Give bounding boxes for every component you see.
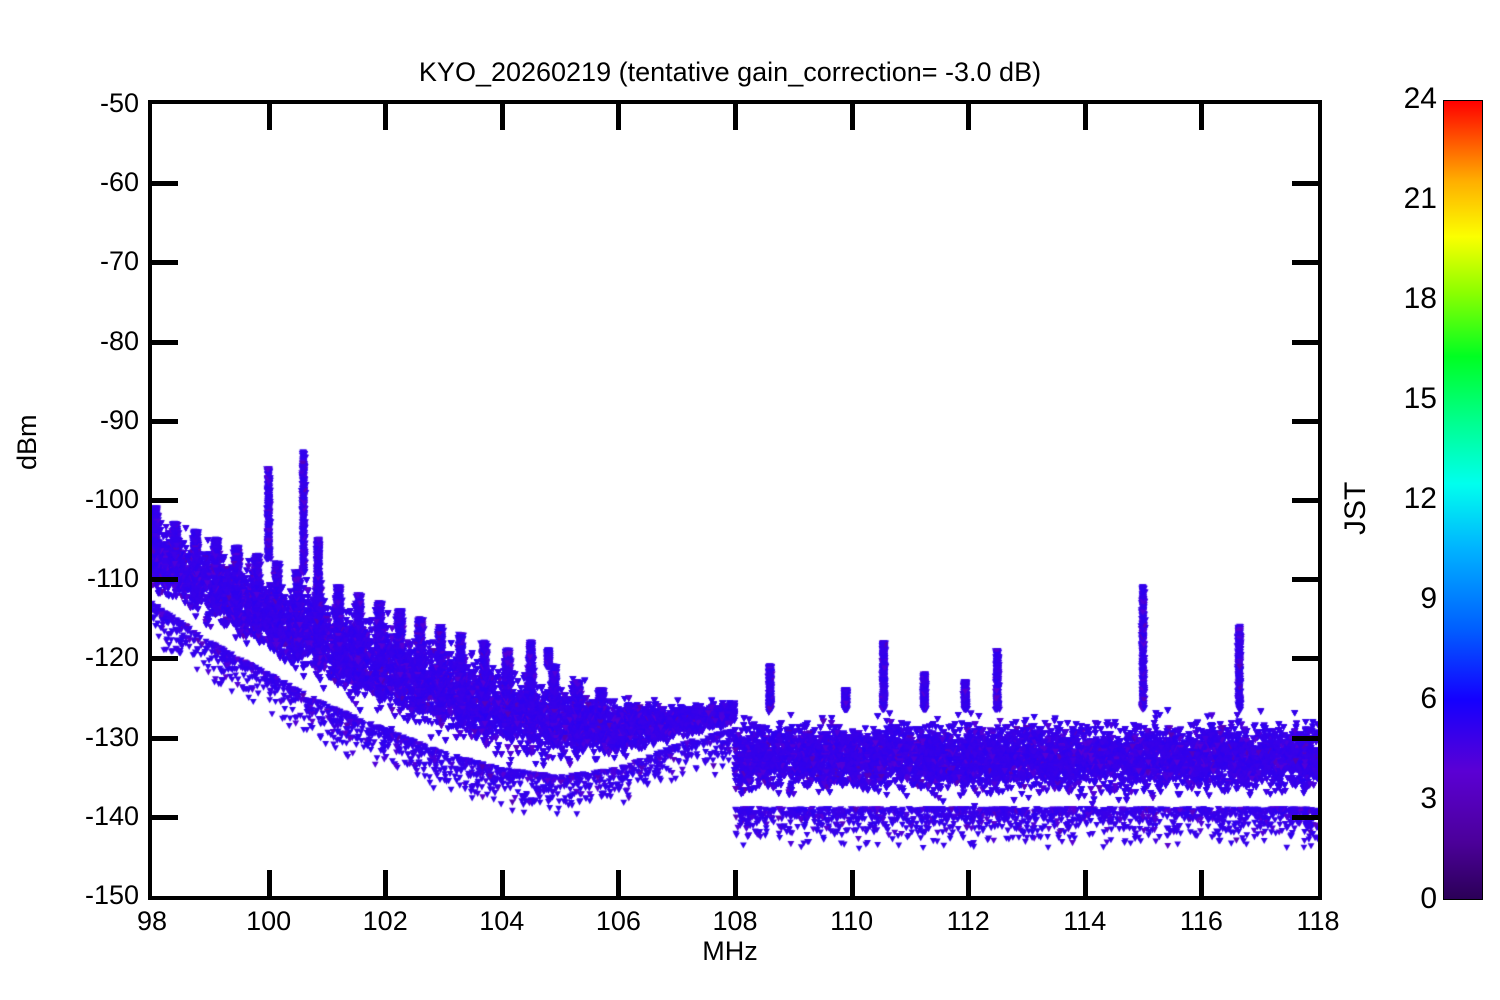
x-axis-tick-label: 108 — [712, 908, 757, 935]
y-axis-tick — [152, 577, 178, 582]
y-axis-tick-labels: -50-60-70-80-90-100-110-120-130-140-150 — [0, 0, 139, 1000]
colorbar-tick-label: 3 — [1420, 784, 1437, 814]
x-axis-tick-label: 116 — [1180, 908, 1223, 935]
y-axis-tick-right — [1292, 260, 1318, 265]
x-axis-tick — [383, 870, 388, 896]
x-axis-tick — [850, 870, 855, 896]
x-axis-tick-label: 118 — [1296, 908, 1339, 935]
x-axis-tick-top — [733, 104, 738, 130]
y-axis-tick — [152, 815, 178, 820]
y-axis-tick-label: -120 — [85, 644, 139, 671]
y-axis-tick-label: -140 — [85, 803, 139, 830]
colorbar-gradient — [1443, 100, 1483, 900]
y-axis-tick — [152, 260, 178, 265]
spectrum-plot-figure: KYO_20260219 (tentative gain_correction=… — [0, 0, 1500, 1000]
x-axis-tick-label: 102 — [363, 908, 408, 935]
x-axis-tick — [616, 870, 621, 896]
y-axis-tick-right — [1292, 419, 1318, 424]
x-axis-tick-label: 112 — [947, 908, 990, 935]
x-axis-tick-top — [500, 104, 505, 130]
y-axis-tick-right — [1292, 577, 1318, 582]
colorbar-tick-label: 15 — [1404, 384, 1437, 414]
y-axis-tick-label: -150 — [85, 882, 139, 909]
y-axis-tick — [152, 340, 178, 345]
x-axis-tick-top — [267, 104, 272, 130]
x-axis-tick-label: 100 — [246, 908, 291, 935]
y-axis-tick — [152, 498, 178, 503]
y-axis-tick-right — [1292, 340, 1318, 345]
colorbar-title: JST — [1341, 482, 1371, 535]
y-axis-tick-right — [1292, 498, 1318, 503]
x-axis-tick-top — [850, 104, 855, 130]
y-axis-tick — [152, 656, 178, 661]
x-axis-tick-top — [966, 104, 971, 130]
x-axis-tick-top — [1199, 104, 1204, 130]
y-axis-tick — [152, 736, 178, 741]
y-axis-tick-label: -70 — [100, 248, 139, 275]
y-axis-tick-label: -80 — [100, 328, 139, 355]
x-axis-tick-label: 104 — [479, 908, 524, 935]
colorbar-tick-label: 18 — [1404, 284, 1437, 314]
colorbar-tick-label: 0 — [1420, 884, 1437, 914]
colorbar — [1443, 100, 1483, 900]
y-axis-tick-label: -110 — [87, 565, 139, 592]
y-axis-title: dBm — [14, 414, 41, 470]
x-axis-tick-top — [616, 104, 621, 130]
y-axis-tick-label: -60 — [100, 169, 139, 196]
x-axis-tick-label: 110 — [830, 908, 873, 935]
y-axis-tick-right — [1292, 656, 1318, 661]
y-axis-tick — [152, 181, 178, 186]
page-title: KYO_20260219 (tentative gain_correction=… — [0, 57, 1460, 87]
x-axis-tick — [267, 870, 272, 896]
x-axis-tick — [1199, 870, 1204, 896]
y-axis-tick-right — [1292, 815, 1318, 820]
y-axis-tick — [152, 419, 178, 424]
scatter-data-layer — [152, 104, 1318, 896]
x-axis-tick-top — [1083, 104, 1088, 130]
colorbar-tick-label: 21 — [1404, 184, 1437, 214]
colorbar-tick-label: 12 — [1404, 484, 1437, 514]
x-axis-tick — [500, 870, 505, 896]
x-axis-tick-label: 106 — [596, 908, 641, 935]
x-axis-tick — [733, 870, 738, 896]
colorbar-tick-label: 24 — [1404, 84, 1437, 114]
y-axis-tick-label: -100 — [85, 486, 139, 513]
y-axis-tick-right — [1292, 181, 1318, 186]
y-axis-tick-right — [1292, 736, 1318, 741]
colorbar-tick-label: 9 — [1420, 584, 1437, 614]
y-axis-tick-label: -130 — [85, 724, 139, 751]
x-axis-tick — [966, 870, 971, 896]
x-axis-tick — [1083, 870, 1088, 896]
x-axis-tick-top — [383, 104, 388, 130]
colorbar-tick-label: 6 — [1420, 684, 1437, 714]
x-axis-title: MHz — [0, 938, 1460, 965]
y-axis-tick-label: -50 — [100, 90, 139, 117]
x-axis-tick-label: 98 — [137, 908, 167, 935]
x-axis-tick-label: 114 — [1063, 908, 1106, 935]
y-axis-tick-label: -90 — [100, 407, 139, 434]
